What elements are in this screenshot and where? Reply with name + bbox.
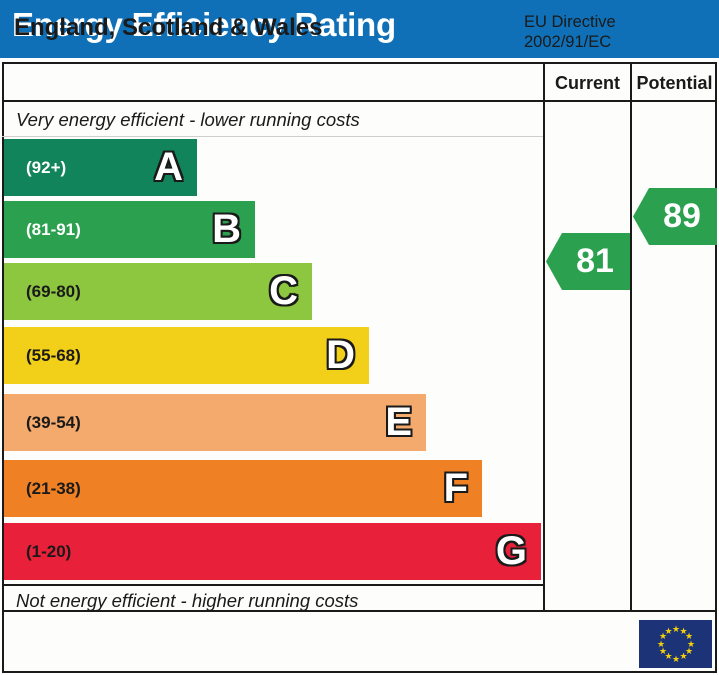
rating-band-g: (1-20)G bbox=[4, 523, 541, 580]
bottom-caption-divider bbox=[2, 584, 543, 586]
band-letter: G bbox=[496, 531, 527, 571]
eu-flag-star: ★ bbox=[672, 626, 679, 633]
energy-efficiency-rating-chart: Energy Efficiency Rating Current Potenti… bbox=[0, 0, 719, 675]
footer-region-label: England, Scotland & Wales bbox=[14, 14, 322, 42]
band-letter: D bbox=[326, 335, 355, 375]
band-range-label: (39-54) bbox=[26, 413, 81, 433]
eu-flag-star: ★ bbox=[659, 648, 666, 655]
band-letter: A bbox=[154, 147, 183, 187]
eu-flag-star: ★ bbox=[672, 656, 679, 663]
eu-flag-star: ★ bbox=[665, 628, 672, 635]
potential-rating-arrow: 89 bbox=[633, 188, 717, 245]
eu-flag-star: ★ bbox=[657, 641, 664, 648]
header-row-divider bbox=[2, 100, 717, 102]
band-letter: E bbox=[385, 402, 412, 442]
caption-not-efficient: Not energy efficient - higher running co… bbox=[16, 590, 358, 612]
band-range-label: (1-20) bbox=[26, 542, 71, 562]
band-letter: B bbox=[212, 209, 241, 249]
caption-very-efficient: Very energy efficient - lower running co… bbox=[16, 109, 360, 131]
top-caption-divider bbox=[2, 136, 543, 137]
current-column-divider bbox=[543, 62, 545, 612]
rating-band-c: (69-80)C bbox=[4, 263, 312, 320]
rating-band-b: (81-91)B bbox=[4, 201, 255, 258]
rating-band-d: (55-68)D bbox=[4, 327, 369, 384]
directive-line-2: 2002/91/EC bbox=[524, 32, 616, 52]
footer-directive-label: EU Directive 2002/91/EC bbox=[524, 12, 616, 52]
current-rating-arrow: 81 bbox=[546, 233, 630, 290]
column-header-current: Current bbox=[545, 70, 630, 96]
eu-flag-star: ★ bbox=[680, 653, 687, 660]
band-range-label: (81-91) bbox=[26, 220, 81, 240]
eu-flag-icon: ★★★★★★★★★★★★ bbox=[639, 620, 712, 668]
band-range-label: (55-68) bbox=[26, 346, 81, 366]
band-range-label: (21-38) bbox=[26, 479, 81, 499]
rating-band-f: (21-38)F bbox=[4, 460, 482, 517]
footer-bar bbox=[2, 612, 717, 673]
directive-line-1: EU Directive bbox=[524, 12, 616, 32]
potential-column-divider bbox=[630, 62, 632, 612]
band-letter: C bbox=[269, 271, 298, 311]
band-letter: F bbox=[444, 468, 468, 508]
column-header-potential: Potential bbox=[632, 70, 717, 96]
band-range-label: (69-80) bbox=[26, 282, 81, 302]
band-range-label: (92+) bbox=[26, 158, 66, 178]
rating-band-e: (39-54)E bbox=[4, 394, 426, 451]
rating-band-a: (92+)A bbox=[4, 139, 197, 196]
